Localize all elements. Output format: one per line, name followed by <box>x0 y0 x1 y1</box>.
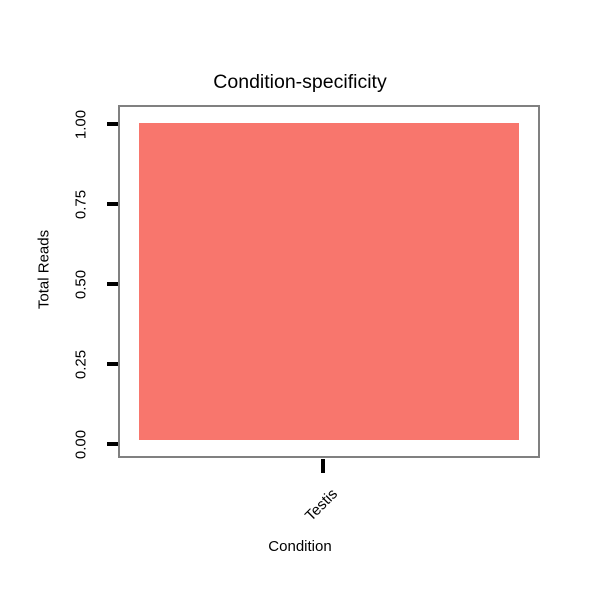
bar-testis[interactable] <box>139 123 519 440</box>
y-tick-mark-0.00 <box>107 442 118 446</box>
y-tick-mark-0.50 <box>107 282 118 286</box>
chart-title: Condition-specificity <box>0 70 600 94</box>
y-tick-label-1.00: 1.00 <box>74 102 89 148</box>
plot-panel <box>118 105 540 458</box>
y-axis-title: Total Reads <box>37 220 52 320</box>
chart-container: Condition-specificity Total Reads 1.00 0… <box>0 0 600 600</box>
x-tick-mark-testis <box>321 459 325 473</box>
y-tick-mark-0.25 <box>107 362 118 366</box>
y-tick-mark-0.75 <box>107 202 118 206</box>
y-tick-label-0.25: 0.25 <box>74 342 89 388</box>
y-tick-label-0.50: 0.50 <box>74 262 89 308</box>
plot-panel-inner <box>120 107 538 456</box>
y-tick-label-0.00: 0.00 <box>74 422 89 468</box>
y-tick-mark-1.00 <box>107 122 118 126</box>
x-axis-title: Condition <box>0 538 600 556</box>
y-tick-label-0.75: 0.75 <box>74 182 89 228</box>
